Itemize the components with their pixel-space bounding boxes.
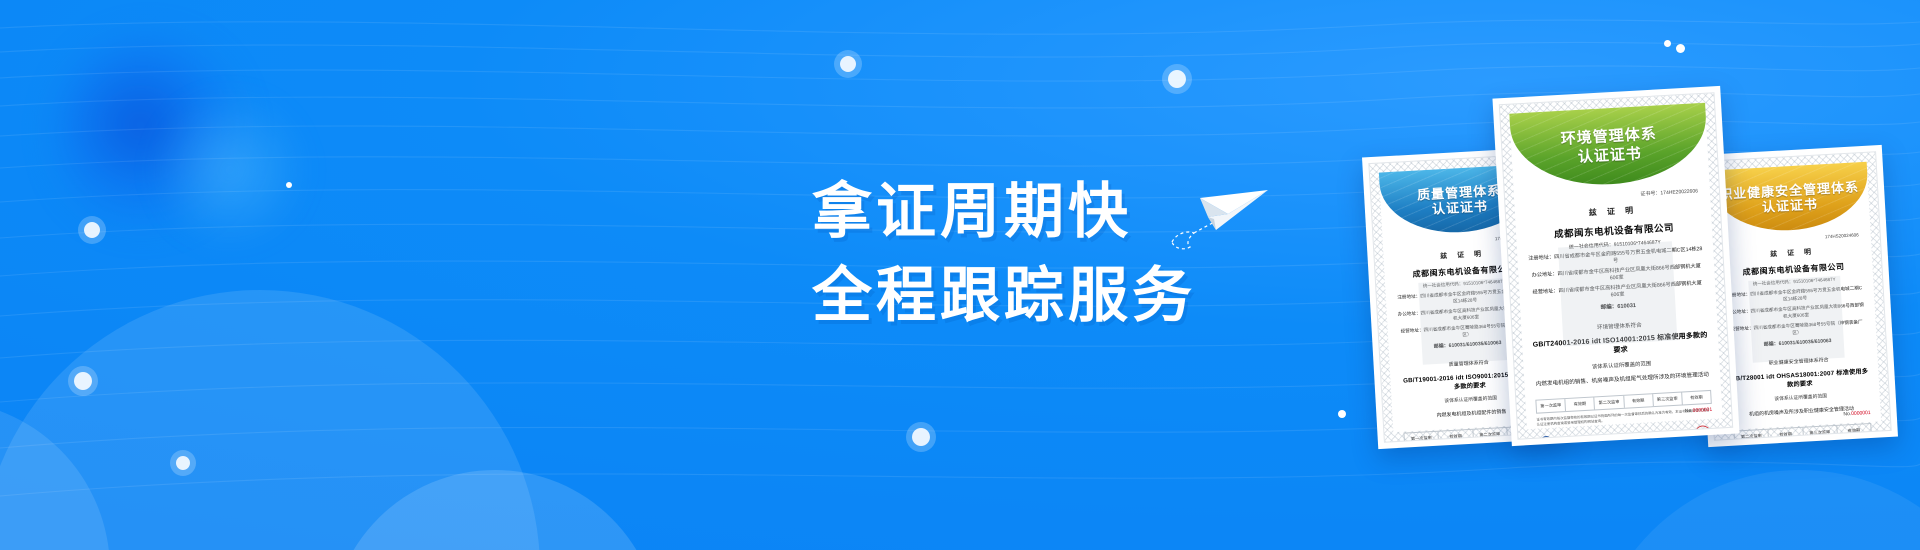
- decorative-dot: [286, 182, 292, 188]
- audit-cell: 第二次监审: [1473, 428, 1508, 442]
- decorative-dot: [1664, 40, 1671, 47]
- cert-scope: 内燃发电机组的销售、机房噪声及机组尾气处理所涉及的环境管理活动: [1534, 372, 1710, 389]
- cnas-logo-icon: CNAS: [1591, 437, 1622, 440]
- audit-cell: 第一次监审: [1536, 399, 1566, 413]
- audit-cell: 有效期: [1624, 394, 1654, 408]
- cert-number-value: 174HE20022606: [1660, 188, 1698, 196]
- cert-number: 174HS20024606: [1723, 232, 1861, 245]
- certificate-watermark: [1748, 276, 1844, 362]
- decorative-dot: [1168, 70, 1186, 88]
- audit-cell: 有效期: [1566, 397, 1596, 411]
- iaf-logo-icon: IAF: [1560, 435, 1587, 439]
- cert-number-label: 证书号：: [1640, 190, 1660, 197]
- decorative-dot: [840, 56, 856, 72]
- china-certification-seal-icon: 周: [1537, 436, 1555, 440]
- audit-cell: 有效期: [1439, 430, 1474, 443]
- audit-cell: 第三次监审: [1803, 426, 1838, 440]
- decorative-dot: [1338, 410, 1346, 418]
- audit-cell: 有效期: [1837, 424, 1871, 438]
- audit-cell: 第三次监审: [1653, 393, 1683, 407]
- audit-cell: 第二次监审: [1734, 430, 1769, 441]
- certificate-group: 质量管理体系 认证证书 174HK20022606 兹 证 明 成都闽东电机设备…: [1370, 92, 1890, 472]
- decorative-dot: [1676, 44, 1685, 53]
- decorative-dot: [84, 222, 100, 238]
- cert-audit-grid: 第二次监审 有效期 第三次监审 有效期: [1733, 423, 1872, 441]
- headline-line-1: 拿证周期快: [812, 170, 1196, 254]
- certificate-header-environment: 环境管理体系 认证证书: [1509, 103, 1709, 190]
- decorative-dot: [74, 372, 92, 390]
- cnas-caption: 中国认可 管理体系 MANAGEMENT SYSTEM CNAS-C174-M: [1626, 435, 1688, 440]
- cert-scope-label: 该体系认证所覆盖的范围: [1732, 390, 1870, 405]
- paper-plane-icon: [1164, 176, 1274, 254]
- cert-standard: GB/T28001 idt OHSAS18001:2007 标准使用多款的要求: [1730, 366, 1869, 392]
- audit-cell: 有效期: [1682, 391, 1711, 405]
- audit-cell: 有效期: [1769, 428, 1804, 441]
- cert-number: 证书号：174HE20022606: [1524, 187, 1700, 204]
- cert-serial-number: 0000001: [1693, 407, 1713, 414]
- decorative-dot: [912, 428, 930, 446]
- audit-cell: 第二次监审: [1595, 396, 1625, 410]
- headline-block: 拿证周期快 全程跟踪服务: [812, 170, 1196, 338]
- promo-banner: 拿证周期快 全程跟踪服务 质量管理体系 认证证书: [0, 0, 1920, 550]
- certificate-watermark: [1418, 278, 1514, 364]
- decorative-dot: [176, 456, 190, 470]
- certificate-environment[interactable]: 环境管理体系 认证证书 证书号：174HE20022606 兹 证 明 成都闽东…: [1492, 86, 1739, 446]
- cert-serial-number: 0000001: [1851, 410, 1871, 417]
- headline-line-2: 全程跟踪服务: [812, 254, 1196, 338]
- certificate-watermark: [1558, 241, 1677, 346]
- cert-scope-label: 该体系认证所覆盖的范围: [1533, 356, 1709, 374]
- audit-cell: 第一次监审: [1404, 432, 1439, 443]
- cert-attest-label: 兹 证 明: [1723, 244, 1861, 262]
- certificate-header-occupational-health: 职业健康安全管理体系 认证证书: [1709, 162, 1870, 235]
